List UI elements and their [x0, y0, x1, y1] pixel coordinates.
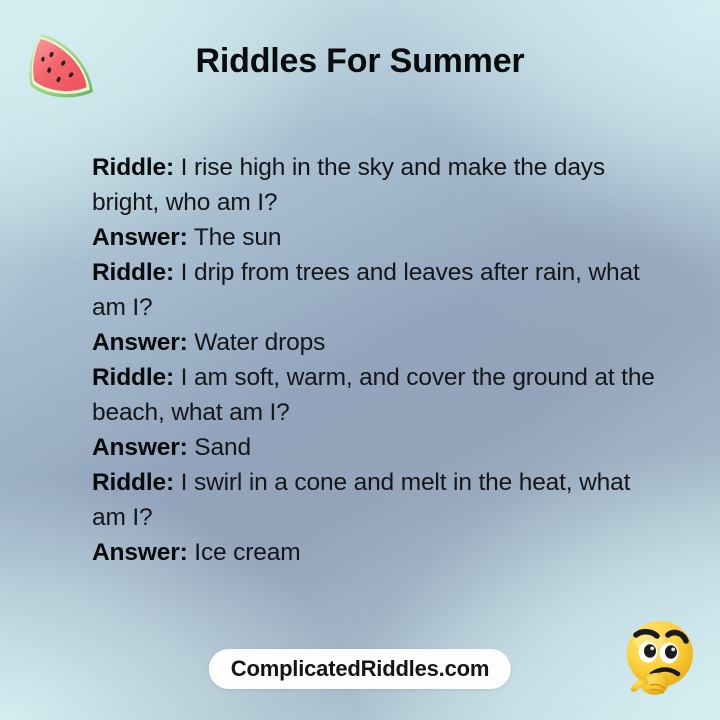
answer-label: Answer:: [92, 329, 188, 356]
riddle-label: Riddle:: [92, 364, 174, 391]
page-title: Riddles For Summer: [0, 38, 720, 84]
riddle-answer-line: Answer: Sand: [92, 430, 658, 465]
answer-label: Answer:: [92, 224, 188, 251]
riddle-answer-text: The sun: [194, 224, 281, 251]
answer-label: Answer:: [92, 539, 188, 566]
riddle-question-line: Riddle: I am soft, warm, and cover the g…: [92, 360, 658, 430]
riddle-label: Riddle:: [92, 259, 174, 286]
riddle-question-text: I drip from trees and leaves after rain,…: [92, 259, 640, 321]
riddle-poster: Riddles For Summer Riddle: I rise high i…: [0, 0, 720, 720]
riddle-question-line: Riddle: I swirl in a cone and melt in th…: [92, 465, 658, 535]
riddle-item: Riddle: I drip from trees and leaves aft…: [92, 255, 658, 360]
riddle-answer-line: Answer: The sun: [92, 220, 658, 255]
riddle-answer-line: Answer: Ice cream: [92, 535, 658, 570]
riddle-answer-text: Sand: [194, 434, 251, 461]
riddle-label: Riddle:: [92, 154, 174, 181]
riddle-item: Riddle: I am soft, warm, and cover the g…: [92, 360, 658, 465]
riddle-item: Riddle: I swirl in a cone and melt in th…: [92, 465, 658, 570]
riddle-question-line: Riddle: I rise high in the sky and make …: [92, 150, 658, 220]
riddle-answer-line: Answer: Water drops: [92, 325, 658, 360]
riddle-label: Riddle:: [92, 469, 174, 496]
riddle-question-text: I am soft, warm, and cover the ground at…: [92, 364, 655, 426]
riddle-question-line: Riddle: I drip from trees and leaves aft…: [92, 255, 658, 325]
answer-label: Answer:: [92, 434, 188, 461]
riddle-list: Riddle: I rise high in the sky and make …: [92, 150, 658, 570]
site-badge[interactable]: ComplicatedRiddles.com: [209, 649, 511, 689]
riddle-item: Riddle: I rise high in the sky and make …: [92, 150, 658, 255]
thinking-face-icon: [608, 608, 708, 708]
riddle-answer-text: Water drops: [194, 329, 325, 356]
riddle-answer-text: Ice cream: [194, 539, 300, 566]
site-badge-label: ComplicatedRiddles.com: [231, 656, 489, 682]
